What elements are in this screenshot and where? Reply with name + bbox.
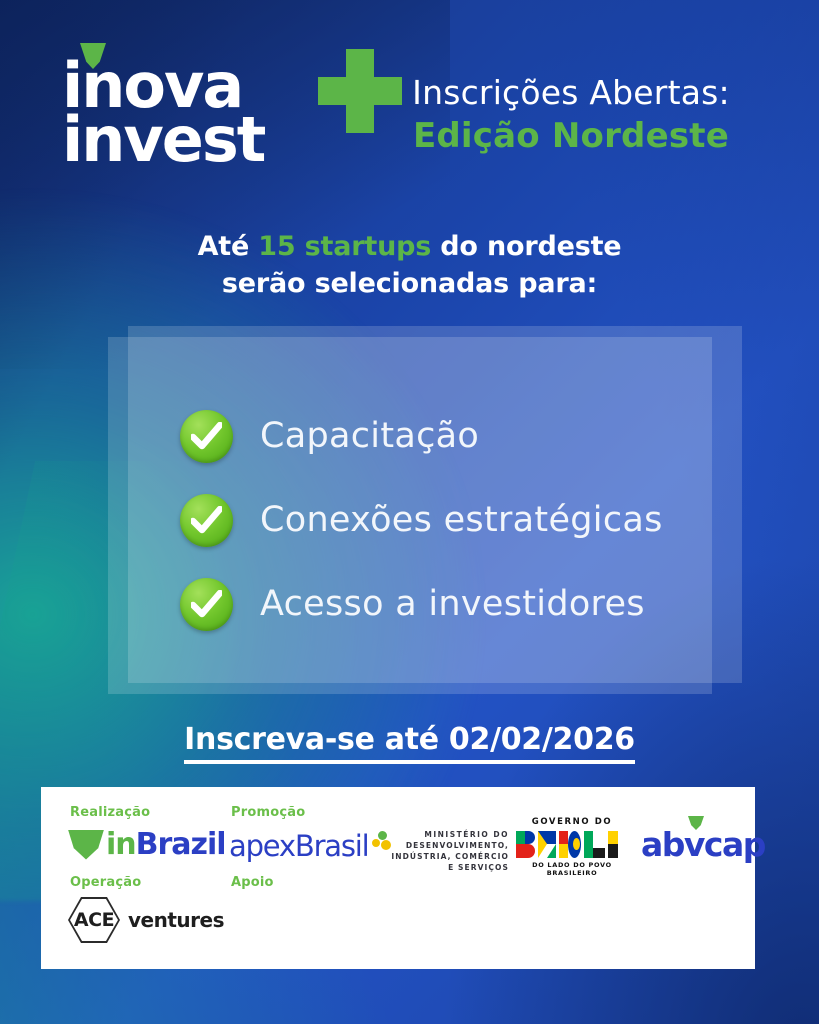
logo-line-2: invest [62,109,362,171]
benefit-label: Acesso a investidores [260,584,645,624]
cta-block[interactable]: Inscreva-se até 02/02/2026 [0,722,819,764]
abvcap-logo: abvcap [641,825,745,864]
ace-ventures-word: ventures [128,908,224,932]
ministry-line-4: E SERVIÇOS [373,862,509,873]
hexagon-icon: ACE [68,897,120,943]
abvcap-text: abvcap [641,825,745,864]
benefit-label: Capacitação [260,416,479,456]
subtitle-part-1: Até [198,231,259,262]
apexbrasil-text: apexBrasil [229,829,369,863]
subtitle-part-2: do nordeste [431,231,621,262]
headline-primary: Inscrições Abertas: [381,72,761,114]
check-circle-icon [180,410,233,463]
list-item: Acesso a investidores [180,563,740,645]
ministry-line-1: MINISTÉRIO DO [373,829,509,840]
list-item: Conexões estratégicas [180,479,740,561]
promo-poster: inova invest Inscrições Abertas: Edição … [0,0,819,1024]
label-realizacao: Realização [70,805,150,820]
benefit-label: Conexões estratégicas [260,500,663,540]
poster-header: inova invest Inscrições Abertas: Edição … [0,0,819,210]
headline-block: Inscrições Abertas: Edição Nordeste [381,72,761,158]
governo-top-text: GOVERNO DO [513,817,631,827]
logo-text-invest: invest [62,109,362,171]
label-apoio: Apoio [231,875,274,890]
subtitle-line-2: serão selecionadas para: [0,265,819,302]
headline-secondary: Edição Nordeste [381,114,761,158]
subtitle-block: Até 15 startups do nordeste serão seleci… [0,228,819,302]
benefits-list: Capacitação Conexões estratégicas Acesso… [180,395,740,647]
apexbrasil-logo: apexBrasil [229,829,394,863]
subtitle-line-1: Até 15 startups do nordeste [0,228,819,265]
cta-link[interactable]: Inscreva-se até 02/02/2026 [184,722,635,764]
subtitle-highlight: 15 startups [258,231,431,262]
brasil-blocks-icon [516,831,628,858]
governo-brasil-logo: GOVERNO DO DO LADO DO POVO BRASILEIR [513,817,631,877]
governo-bottom-text: DO LADO DO POVO BRASILEIRO [513,861,631,877]
ace-ventures-logo: ACE ventures [68,897,224,943]
inbrazil-text-in: in [106,827,136,862]
inbrazil-logo: in Brazil [68,827,226,862]
inbrazil-text-brazil: Brazil [136,827,226,862]
check-circle-icon [180,494,233,547]
ace-badge-text: ACE [74,909,114,931]
label-operacao: Operação [70,875,141,890]
label-promocao: Promoção [231,805,305,820]
sponsor-footer-bar: Realização Promoção Operação Apoio in Br… [41,787,755,969]
list-item: Capacitação [180,395,740,477]
ministry-logo-text: MINISTÉRIO DO DESENVOLVIMENTO, INDÚSTRIA… [373,829,509,873]
check-circle-icon [180,578,233,631]
inova-invest-logo: inova invest [62,55,362,171]
ministry-line-3: INDÚSTRIA, COMÉRCIO [373,851,509,862]
ministry-line-2: DESENVOLVIMENTO, [373,840,509,851]
inbrazil-leaf-icon [68,830,104,860]
